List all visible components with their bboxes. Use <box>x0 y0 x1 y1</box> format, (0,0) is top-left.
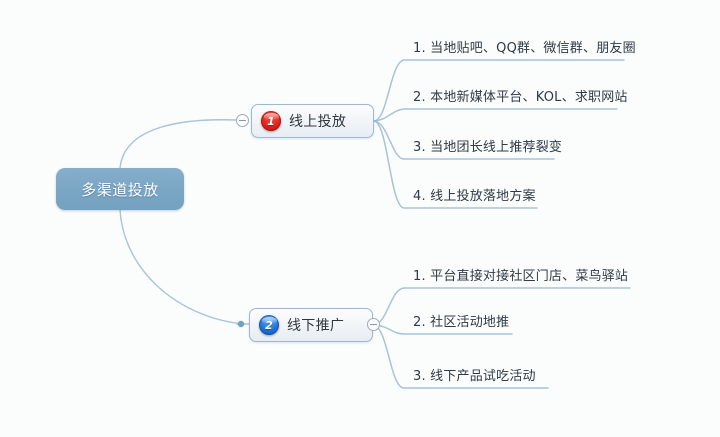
leaf-node-1-2-label: 2. 本地新媒体平台、KOL、求职网站 <box>404 86 628 105</box>
branch-node-1-label: 线上投放 <box>289 111 346 131</box>
branch-node-2-label: 线下推广 <box>287 315 344 335</box>
leaf-node-1-4-label: 4. 线上投放落地方案 <box>404 185 536 204</box>
connector-edges <box>0 0 720 437</box>
mindmap-canvas: 多渠道投放 1 线上投放 1. 当地贴吧、QQ群、微信群、朋友圈 2. 本地新媒… <box>0 0 720 437</box>
badge-2: 2 <box>259 315 279 335</box>
branch-node-1[interactable]: 1 线上投放 <box>251 104 374 138</box>
minus-circle-icon-branch-2[interactable] <box>367 318 380 331</box>
leaf-node-2-2-label: 2. 社区活动地推 <box>404 311 509 330</box>
branch-node-2[interactable]: 2 线下推广 <box>249 308 373 342</box>
root-node-label: 多渠道投放 <box>81 179 159 200</box>
leaf-node-1-3[interactable]: 3. 当地团长线上推荐裂变 <box>404 132 562 158</box>
minus-circle-icon-branch-1[interactable] <box>236 114 249 127</box>
leaf-node-1-4[interactable]: 4. 线上投放落地方案 <box>404 181 536 207</box>
leaf-node-1-1[interactable]: 1. 当地贴吧、QQ群、微信群、朋友圈 <box>404 33 636 59</box>
leaf-node-2-3[interactable]: 3. 线下产品试吃活动 <box>404 361 536 387</box>
leaf-node-1-1-label: 1. 当地贴吧、QQ群、微信群、朋友圈 <box>404 37 636 56</box>
leaf-node-2-1[interactable]: 1. 平台直接对接社区门店、菜鸟驿站 <box>404 261 628 287</box>
leaf-node-2-1-label: 1. 平台直接对接社区门店、菜鸟驿站 <box>404 265 628 284</box>
leaf-node-2-2[interactable]: 2. 社区活动地推 <box>404 307 509 333</box>
leaf-node-2-3-label: 3. 线下产品试吃活动 <box>404 365 536 384</box>
leaf-node-1-3-label: 3. 当地团长线上推荐裂变 <box>404 136 562 155</box>
leaf-node-1-2[interactable]: 2. 本地新媒体平台、KOL、求职网站 <box>404 82 628 108</box>
badge-1: 1 <box>261 111 281 131</box>
root-node[interactable]: 多渠道投放 <box>56 168 184 210</box>
